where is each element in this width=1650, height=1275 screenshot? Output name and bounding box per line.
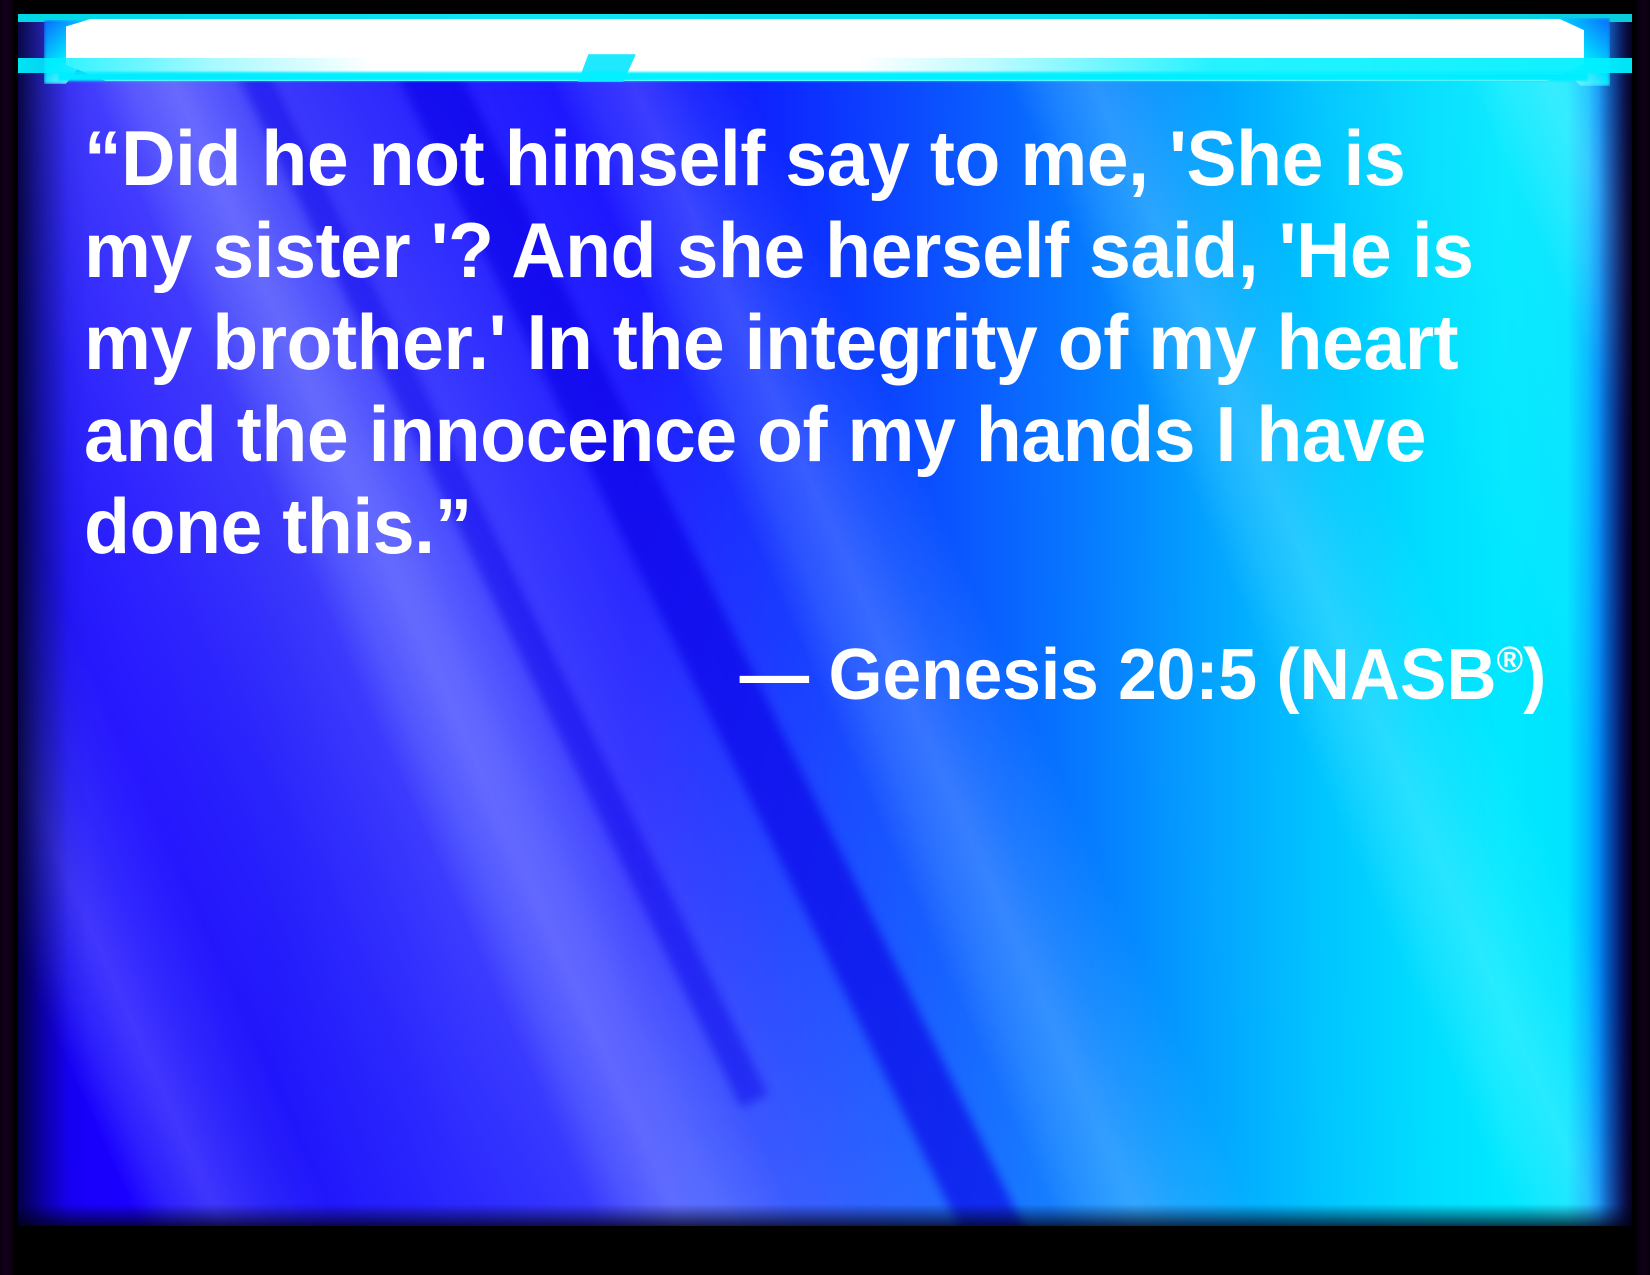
attribution-version-open: (NASB <box>1277 635 1497 715</box>
frame-edge-right <box>1636 0 1650 1275</box>
banner-bottom-cyan-edge <box>58 72 1588 81</box>
banner-cyan-streak <box>18 58 1632 73</box>
verse-attribution: — Genesis 20:5 (NASB®) <box>135 572 1554 718</box>
background-right-vignette <box>1588 14 1632 1226</box>
slide-canvas: “Did he not himself say to me, 'She is m… <box>18 14 1632 1226</box>
top-banner-band <box>18 14 1632 90</box>
attribution-reference: Genesis 20:5 <box>828 635 1257 715</box>
attribution-version-close: ) <box>1523 635 1546 715</box>
verse-block: “Did he not himself say to me, 'She is m… <box>84 112 1554 718</box>
slide-frame: “Did he not himself say to me, 'She is m… <box>0 0 1650 1275</box>
attribution-dash: — <box>740 635 809 715</box>
verse-text: “Did he not himself say to me, 'She is m… <box>84 112 1503 572</box>
background-bottom-vignette <box>18 1204 1632 1226</box>
background-left-vignette <box>18 14 88 1226</box>
registered-trademark-icon: ® <box>1497 638 1524 680</box>
frame-edge-left <box>0 0 14 1275</box>
